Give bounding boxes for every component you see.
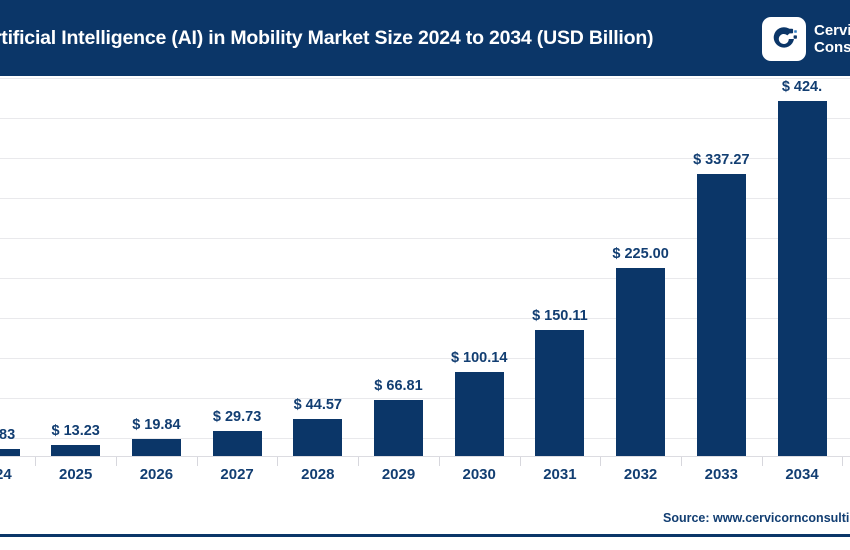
- x-axis-tick: [842, 457, 843, 466]
- bar[interactable]: [616, 268, 665, 456]
- x-axis-line: [0, 456, 850, 457]
- x-axis-tick: [681, 457, 682, 466]
- chart-header-bar: Artificial Intelligence (AI) in Mobility…: [0, 0, 850, 76]
- x-axis-tick: [439, 457, 440, 466]
- brand-name-line1: Cervicorn: [814, 22, 850, 39]
- source-text: Source: www.cervicornconsulting.com: [663, 511, 850, 525]
- bar-value-label: $ 66.81: [349, 378, 449, 394]
- page-title: Artificial Intelligence (AI) in Mobility…: [0, 26, 750, 50]
- gridline: [0, 118, 850, 119]
- bar-value-label: $ 44.57: [268, 397, 368, 413]
- bar[interactable]: [213, 431, 262, 456]
- gridline: [0, 78, 850, 79]
- bar-value-label: $ 424.: [752, 79, 850, 95]
- x-axis-tick: [197, 457, 198, 466]
- x-axis-tick: [762, 457, 763, 466]
- bar[interactable]: [455, 372, 504, 456]
- x-axis-tick: [116, 457, 117, 466]
- bar[interactable]: [51, 445, 100, 456]
- bar-value-label: $ 150.11: [510, 308, 610, 324]
- x-axis-tick: [35, 457, 36, 466]
- bar[interactable]: [697, 174, 746, 456]
- bar-value-label: $ 100.14: [429, 350, 529, 366]
- x-axis-tick: [358, 457, 359, 466]
- brand-name-line2: Consulting: [814, 39, 850, 56]
- footer-divider: [0, 534, 850, 537]
- x-axis-tick: [600, 457, 601, 466]
- bar-value-label: $ 337.27: [671, 152, 771, 168]
- brand-lockup: Cervicorn Consulting: [762, 16, 850, 62]
- bar-value-label: $ 225.00: [591, 246, 691, 262]
- bar[interactable]: [374, 400, 423, 456]
- bar[interactable]: [0, 449, 20, 456]
- bar-chart-plot-area: $ 8.83$ 13.23$ 19.84$ 29.73$ 44.57$ 66.8…: [0, 76, 850, 476]
- x-axis-tick: [277, 457, 278, 466]
- brand-name: Cervicorn Consulting: [814, 22, 850, 56]
- x-axis-label-2034: 2034: [752, 466, 850, 483]
- cervicorn-c-logo-icon: [762, 17, 806, 61]
- bar[interactable]: [778, 101, 827, 456]
- bar[interactable]: [293, 419, 342, 456]
- bar[interactable]: [535, 330, 584, 456]
- x-axis-category-labels: 2024202520262027202820292030203120322033…: [0, 466, 850, 492]
- bar[interactable]: [132, 439, 181, 456]
- x-axis-tick: [520, 457, 521, 466]
